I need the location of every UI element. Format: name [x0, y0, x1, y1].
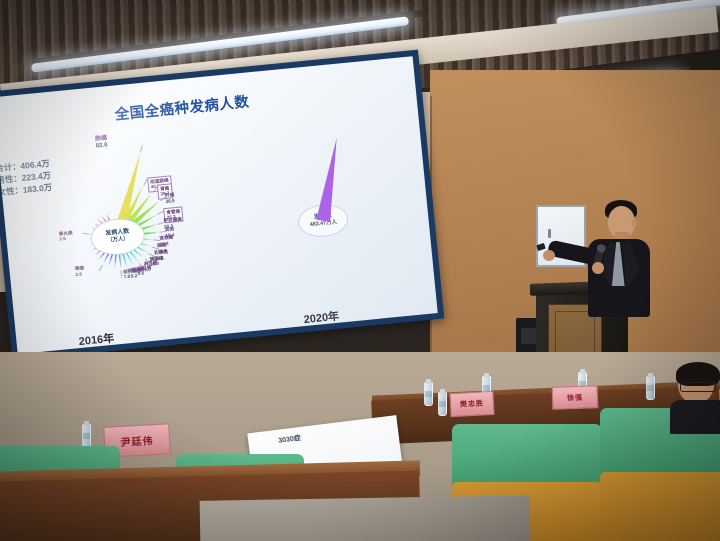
screen-glare [0, 56, 438, 354]
nameplate-3-text: 徐强 [567, 392, 583, 403]
attendee-right-body [670, 400, 720, 434]
attendee-right [676, 366, 720, 428]
whiteboard-handle [548, 229, 551, 238]
presenter-ear [631, 219, 637, 227]
water-bottle-5 [646, 376, 655, 400]
presenter-hand [543, 250, 555, 261]
screenshot-scene: 全国全癌种发病人数 合计：406.4万 男性：223.4万 女性：183.0万 … [0, 0, 720, 541]
presenter-hand-mic [592, 262, 604, 274]
chart-2016-hub-line2: （万人） [107, 236, 129, 245]
water-bottle-2 [438, 392, 447, 416]
nameplate-1-text: 尹廷伟 [120, 432, 154, 449]
projection-screen-frame: 全国全癌种发病人数 合计：406.4万 男性：223.4万 女性：183.0万 … [0, 50, 444, 361]
attendee-right-glasses [680, 382, 716, 392]
water-bottle-6 [82, 424, 91, 448]
nameplate-2-text: 樊忠胜 [460, 398, 484, 409]
water-bottle-1 [424, 382, 433, 406]
chair-far-right-seat [600, 472, 720, 541]
nameplate-2: 樊忠胜 [449, 391, 494, 417]
granite-surface [200, 495, 531, 541]
nameplate-3: 徐强 [552, 385, 599, 410]
projection-screen: 全国全癌种发病人数 合计：406.4万 男性：223.4万 女性：183.0万 … [0, 56, 438, 354]
handout-title: 3030症 [278, 433, 302, 446]
